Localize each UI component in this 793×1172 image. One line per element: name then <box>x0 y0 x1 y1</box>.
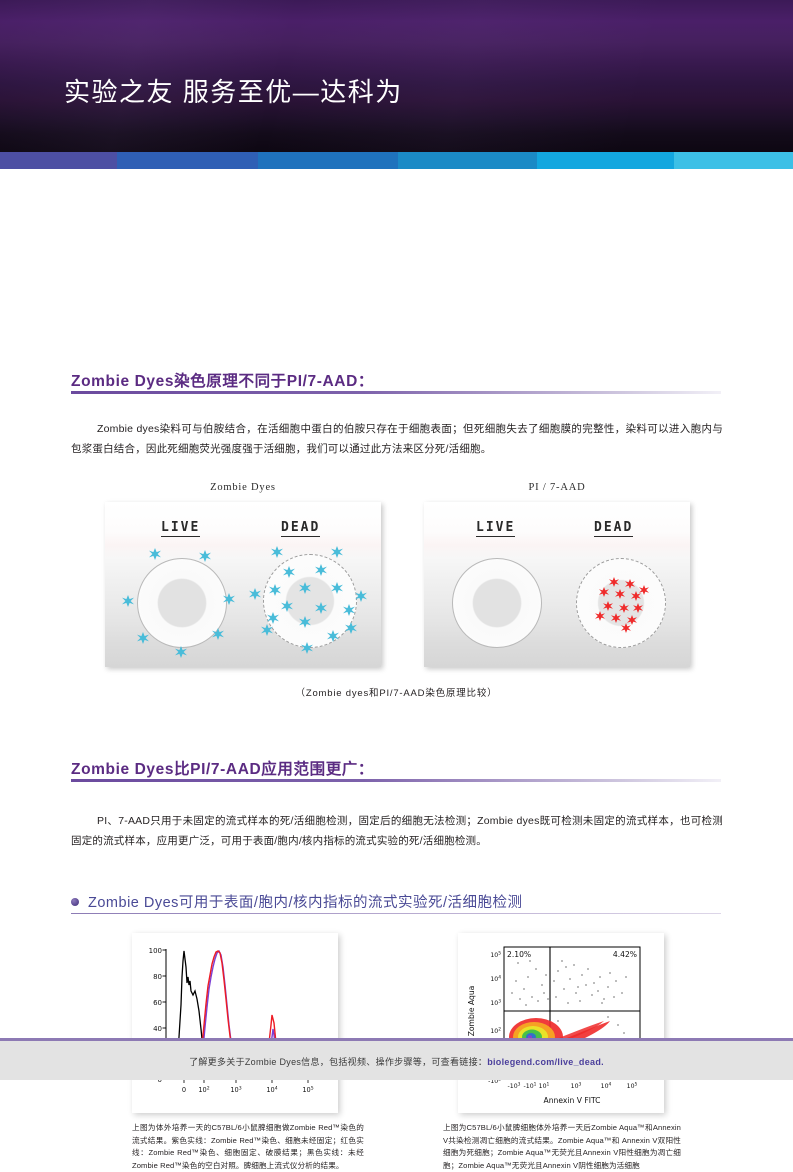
zombie-dyes-illustration-panel: LIVE DEAD <box>105 502 381 667</box>
scatter-plot: Zombie Aqua Annexin V FITC 105 104 103 1… <box>458 933 664 1113</box>
scatter-plot-card: Zombie Aqua Annexin V FITC 105 104 103 1… <box>458 933 664 1113</box>
strip-segment-2 <box>117 152 258 169</box>
strip-segment-3 <box>258 152 399 169</box>
section2-paragraph-text: PI、7-AAD只用于未固定的流式样本的死/活细胞检测，固定后的细胞无法检测；Z… <box>71 815 723 847</box>
histogram-plot-card: 100 80 60 40 20 0 <box>132 933 338 1113</box>
header-title: 实验之友 服务至优—达科为 <box>64 72 403 109</box>
sub-heading-rule <box>71 913 721 914</box>
dead-label-left: DEAD <box>281 520 320 537</box>
strip-segment-6 <box>674 152 793 169</box>
histogram-plot: 100 80 60 40 20 0 <box>132 933 338 1113</box>
scatter-caption: 上图为C57BL/6小鼠脾细胞体外培养一天后Zombie Aqua™和Annex… <box>443 1122 681 1172</box>
section1-heading: Zombie Dyes染色原理不同于PI/7-AAD： <box>71 369 374 391</box>
live-cell-left-stars <box>119 544 245 662</box>
svg-text:100: 100 <box>149 947 162 955</box>
footer-text: 了解更多关于Zombie Dyes信息，包括视频、操作步骤等，可查看链接：bio… <box>0 1055 793 1068</box>
color-strip <box>0 152 793 169</box>
section1-figure-caption: （Zombie dyes和PI/7-AAD染色原理比较） <box>0 685 793 699</box>
section1-paragraph: Zombie dyes染料可与伯胺结合，在活细胞中蛋白的伯胺只存在于细胞表面；但… <box>71 419 723 459</box>
dead-label-right: DEAD <box>594 520 633 537</box>
footer-text-label: 了解更多关于Zombie Dyes信息，包括视频、操作步骤等，可查看链接： <box>189 1057 487 1067</box>
figure-right-label: PI / 7-AAD <box>424 482 690 493</box>
histogram-caption: 上图为体外培养一天的C57BL/6小鼠脾细胞做Zombie Red™染色的流式结… <box>132 1122 364 1172</box>
bullet-icon <box>71 898 79 906</box>
section2-heading: Zombie Dyes比PI/7-AAD应用范围更广： <box>71 757 374 779</box>
strip-segment-5 <box>537 152 674 169</box>
section2-paragraph: PI、7-AAD只用于未固定的流式样本的死/活细胞检测，固定后的细胞无法检测；Z… <box>71 811 723 851</box>
page-footer: 了解更多关于Zombie Dyes信息，包括视频、操作步骤等，可查看链接：bio… <box>0 1038 793 1080</box>
dead-cell-right-stars <box>576 558 664 646</box>
live-label-right: LIVE <box>476 520 515 537</box>
svg-text:60: 60 <box>153 999 162 1007</box>
section2-sub-heading: Zombie Dyes可用于表面/胞内/核内指标的流式实验死/活细胞检测 <box>71 891 523 912</box>
live-cell-right <box>452 558 542 648</box>
section1-paragraph-text: Zombie dyes染料可与伯胺结合，在活细胞中蛋白的伯胺只存在于细胞表面；但… <box>71 423 723 455</box>
figure-left-label: Zombie Dyes <box>105 482 381 493</box>
footer-link[interactable]: biolegend.com/live_dead. <box>487 1057 604 1067</box>
section2-heading-rule <box>71 779 721 782</box>
quadrant-upper-right-value: 4.42% <box>613 950 637 959</box>
live-label-left: LIVE <box>161 520 200 537</box>
pi-7aad-illustration-panel: LIVE DEAD <box>424 502 690 667</box>
svg-text:Annexin V FITC: Annexin V FITC <box>544 1096 601 1105</box>
page-header: 实验之友 服务至优—达科为 <box>0 0 793 152</box>
svg-text:80: 80 <box>153 973 162 981</box>
strip-segment-1 <box>0 152 117 169</box>
dead-cell-left-stars <box>245 540 375 662</box>
svg-text:0: 0 <box>182 1086 186 1094</box>
svg-text:Zombie Aqua: Zombie Aqua <box>467 986 476 1037</box>
quadrant-upper-left-value: 2.10% <box>507 950 531 959</box>
strip-segment-4 <box>398 152 537 169</box>
svg-text:40: 40 <box>153 1025 162 1033</box>
section1-heading-rule <box>71 391 721 394</box>
sub-heading-label: Zombie Dyes可用于表面/胞内/核内指标的流式实验死/活细胞检测 <box>88 891 523 912</box>
